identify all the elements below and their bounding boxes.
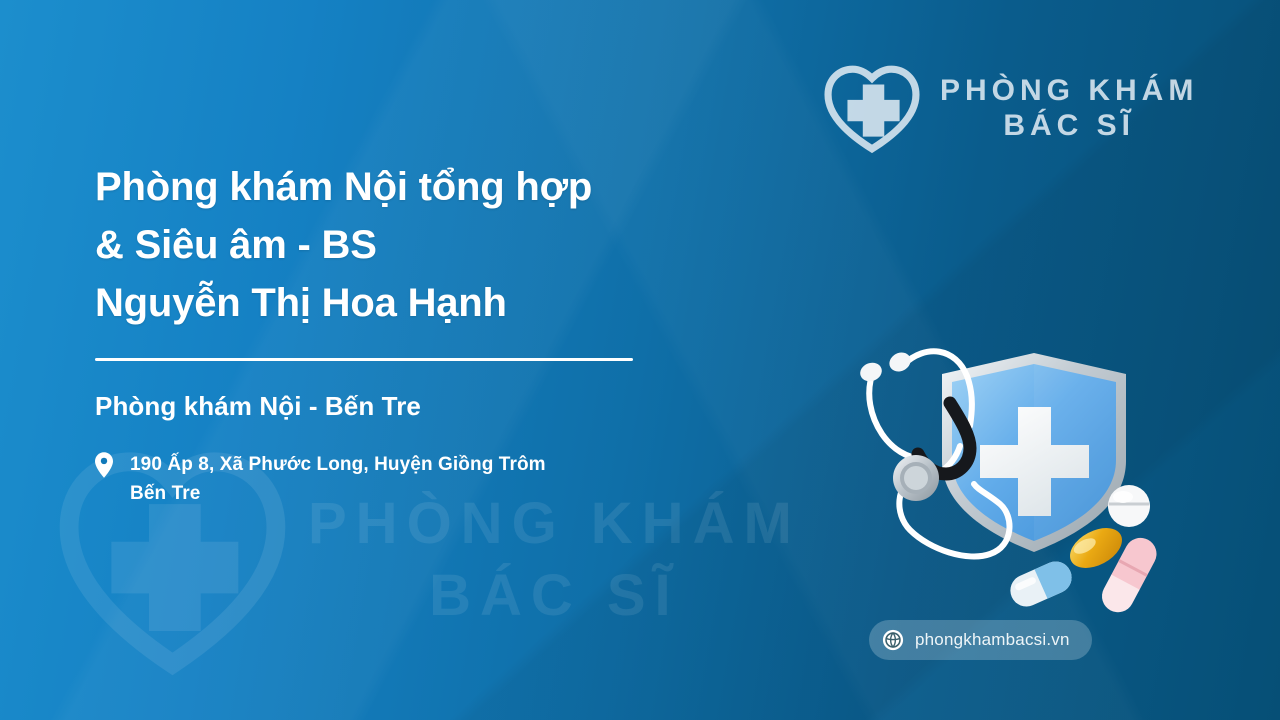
location-pin-icon (95, 452, 113, 478)
heart-cross-medical-icon (818, 62, 926, 154)
website-url: phongkhambacsi.vn (915, 630, 1070, 650)
medical-shield-stethoscope-pills-illustration (838, 318, 1168, 623)
clinic-address-text: 190 Ấp 8, Xã Phước Long, Huyện Giồng Trô… (130, 450, 546, 509)
brand-logo-line-1: PHÒNG KHÁM (940, 73, 1198, 108)
brand-wordmark: PHÒNG KHÁM BÁC SĨ (940, 73, 1198, 144)
address-line-1: 190 Ấp 8, Xã Phước Long, Huyện Giồng Trô… (130, 454, 546, 475)
brand-logo: PHÒNG KHÁM BÁC SĨ (818, 62, 1198, 154)
watermark-wordmark: PHÒNG KHÁM BÁC SĨ (308, 488, 801, 633)
website-badge[interactable]: phongkhambacsi.vn (869, 620, 1092, 660)
title-divider (95, 358, 633, 361)
round-tablet-pill (1108, 485, 1150, 527)
brand-logo-line-2: BÁC SĨ (940, 108, 1198, 143)
clinic-address: 190 Ấp 8, Xã Phước Long, Huyện Giồng Trô… (95, 450, 755, 509)
clinic-title-line-1: Phòng khám Nội tổng hợp (95, 165, 592, 209)
clinic-info-block: Phòng khám Nội tổng hợp & Siêu âm - BS N… (95, 158, 755, 509)
blue-white-capsule-pill (1005, 556, 1076, 611)
globe-icon (882, 629, 904, 651)
stethoscope-chestpiece (893, 455, 939, 501)
clinic-banner: PHÒNG KHÁM BÁC SĨ Phòng khám Nội tổng hợ… (0, 0, 1280, 720)
stethoscope-earpiece (858, 360, 885, 384)
stethoscope-earpiece (886, 349, 914, 375)
page-title: Phòng khám Nội tổng hợp & Siêu âm - BS N… (95, 158, 755, 332)
clinic-specialty: Phòng khám Nội - Bến Tre (95, 391, 755, 422)
watermark-line-2: BÁC SĨ (308, 560, 801, 633)
address-line-2: Bến Tre (130, 483, 200, 504)
clinic-title-line-2: & Siêu âm - BS (95, 223, 377, 267)
clinic-title-line-3: Nguyễn Thị Hoa Hạnh (95, 281, 507, 325)
